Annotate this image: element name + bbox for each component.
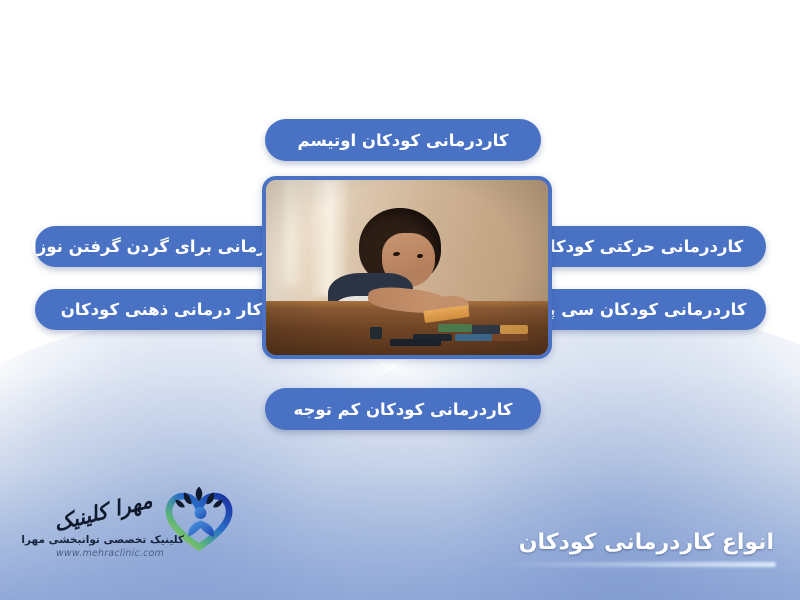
- pill-right-1-label: کاردرمانی حرکتی کودکان: [536, 237, 744, 256]
- page-title: انواع کاردرمانی کودکان: [519, 530, 774, 555]
- pill-top-label: کاردرمانی کودکان اوتیسم: [298, 131, 509, 150]
- infographic-canvas: کاردرمانی کودکان اوتیسم کاردرمانی برای گ…: [0, 0, 800, 600]
- pill-bottom-label: کاردرمانی کودکان کم توجه: [293, 400, 512, 419]
- pill-bottom-attention-deficit[interactable]: کاردرمانی کودکان کم توجه: [265, 388, 541, 430]
- pill-left-1-label: کاردرمانی برای گردن گرفتن نوزاد: [23, 237, 301, 256]
- photo-vignette: [266, 180, 548, 355]
- photo-background: [266, 180, 548, 355]
- pill-left-2-label: کار درمانی ذهنی کودکان: [61, 300, 262, 319]
- pill-left-neck-holding[interactable]: کاردرمانی برای گردن گرفتن نوزاد: [35, 226, 298, 267]
- clinic-logo[interactable]: مهرا کلینیک کلینیک تخصصی توانبخشی مهرا w…: [36, 482, 236, 564]
- logo-website-url: www.mehraclinic.com: [36, 548, 184, 559]
- pill-left-cognitive[interactable]: کار درمانی ذهنی کودکان: [35, 289, 298, 330]
- logo-subtitle: کلینیک تخصصی توانبخشی مهرا: [36, 534, 184, 546]
- pill-right-2-label: کاردرمانی کودکان سی پی: [533, 300, 747, 319]
- pill-top-autism[interactable]: کاردرمانی کودکان اوتیسم: [265, 119, 541, 161]
- center-photo: [262, 176, 552, 359]
- page-title-underline: [496, 562, 776, 567]
